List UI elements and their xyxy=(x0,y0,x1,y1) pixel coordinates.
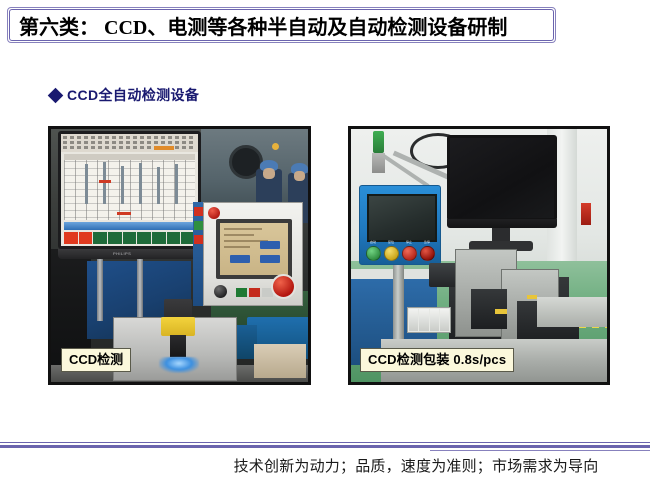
signal-tower-light xyxy=(373,131,384,153)
status-tile-pass xyxy=(152,232,166,244)
hmi-touchscreen[interactable] xyxy=(367,194,437,242)
data-bar xyxy=(157,167,160,204)
panel-switch-green[interactable] xyxy=(236,288,247,297)
footer-divider-thin xyxy=(0,442,650,443)
terminal-block xyxy=(409,309,418,331)
output-tray xyxy=(537,297,607,327)
blue-led-illumination xyxy=(159,357,199,373)
diamond-bullet-icon xyxy=(48,87,64,103)
data-bar xyxy=(139,163,142,204)
indicator-lamp xyxy=(272,143,279,150)
photo-right: 启动 复位 停止 急停 xyxy=(348,126,610,385)
button-label: 复位 xyxy=(384,240,398,244)
status-bar xyxy=(64,222,195,230)
software-toolbar xyxy=(61,134,198,152)
monitor-stand-post xyxy=(97,259,103,321)
lcd-monitor xyxy=(447,135,557,221)
monitor-stand-post xyxy=(137,259,143,321)
hmi-soft-button[interactable] xyxy=(260,255,280,263)
monitor-screen xyxy=(61,134,198,246)
footer-divider-thick xyxy=(0,445,650,448)
status-tile-pass xyxy=(93,232,107,244)
photo-right-caption: CCD检测包装 0.8s/pcs xyxy=(360,348,514,372)
data-bar xyxy=(85,164,88,204)
start-button[interactable] xyxy=(366,246,381,261)
servo-motor xyxy=(429,263,457,287)
warning-marker xyxy=(527,295,537,299)
monitor-screen xyxy=(450,138,554,218)
slide-title-box: 第六类： CCD、电测等各种半自动及自动检测设备研制 xyxy=(7,7,556,43)
data-bar xyxy=(121,166,124,204)
slide-footer: 技术创新为动力；品质，速度为准则；市场需求为导向 xyxy=(0,455,650,476)
terminal-block xyxy=(430,309,439,331)
section-heading: CCD全自动检测设备 xyxy=(50,85,199,105)
fire-extinguisher xyxy=(581,203,591,225)
status-tile-fail xyxy=(79,232,93,244)
slide-title-box-inner: 第六类： CCD、电测等各种半自动及自动检测设备研制 xyxy=(9,9,554,41)
terminal-block xyxy=(440,309,449,331)
page-title: 第六类： CCD、电测等各种半自动及自动检测设备研制 xyxy=(19,11,507,40)
emergency-stop-button[interactable] xyxy=(420,246,435,261)
hmi-screen-bezel xyxy=(216,219,292,279)
section-heading-label: CCD全自动检测设备 xyxy=(67,85,199,105)
data-bar xyxy=(175,164,178,204)
hmi-control-box: 启动 复位 停止 急停 xyxy=(359,185,441,265)
terminal-block xyxy=(419,309,428,331)
button-label: 急停 xyxy=(420,240,434,244)
hmi-indicator-lamp xyxy=(208,207,220,219)
photo-left: PHILIPS xyxy=(48,126,311,385)
warning-marker xyxy=(495,309,507,314)
slide-canvas: 第六类： CCD、电测等各种半自动及自动检测设备研制 CCD全自动检测设备 xyxy=(0,0,650,488)
camera-lens xyxy=(170,335,186,357)
hmi-soft-button[interactable] xyxy=(230,255,250,263)
status-tile-pass xyxy=(123,232,137,244)
selector-knob[interactable] xyxy=(214,285,227,298)
monitor-bezel-bottom xyxy=(447,219,557,228)
highlighted-cell xyxy=(117,212,131,215)
data-bar xyxy=(103,162,106,204)
status-tile-fail xyxy=(64,232,78,244)
cardboard-box xyxy=(254,344,306,378)
ccd-camera-housing xyxy=(161,317,195,336)
stop-button[interactable] xyxy=(402,246,417,261)
footer-divider-accent xyxy=(430,450,650,451)
hmi-touchscreen[interactable] xyxy=(220,223,288,275)
computer-monitor xyxy=(58,131,201,249)
panel-button-red[interactable] xyxy=(194,207,203,216)
monitor-brand-logo: PHILIPS xyxy=(113,251,131,256)
hmi-control-cabinet xyxy=(203,202,303,306)
worker-face xyxy=(263,168,275,179)
worker-face xyxy=(294,171,305,181)
panel-switch-red[interactable] xyxy=(249,288,260,297)
highlighted-cell xyxy=(99,180,111,183)
photo-right-scene: 启动 复位 停止 急停 xyxy=(351,129,607,382)
status-tile-pass xyxy=(108,232,122,244)
status-tile-row xyxy=(64,232,195,244)
button-label: 停止 xyxy=(402,240,416,244)
button-label: 启动 xyxy=(366,240,380,244)
panel-button-green[interactable] xyxy=(194,221,203,230)
photo-left-scene: PHILIPS xyxy=(51,129,308,382)
terminal-block-row xyxy=(407,307,451,333)
emergency-stop-button[interactable] xyxy=(271,274,296,299)
spreadsheet-header-row xyxy=(64,154,195,160)
toolbar-highlight xyxy=(154,146,174,150)
footer-slogan: 技术创新为动力；品质，速度为准则；市场需求为导向 xyxy=(44,455,599,476)
panel-button-red[interactable] xyxy=(194,235,203,244)
status-tile-pass xyxy=(137,232,151,244)
status-tile-pass xyxy=(167,232,181,244)
hmi-soft-button[interactable] xyxy=(260,241,280,249)
reset-button[interactable] xyxy=(384,246,399,261)
photo-left-caption: CCD检测 xyxy=(61,348,131,372)
